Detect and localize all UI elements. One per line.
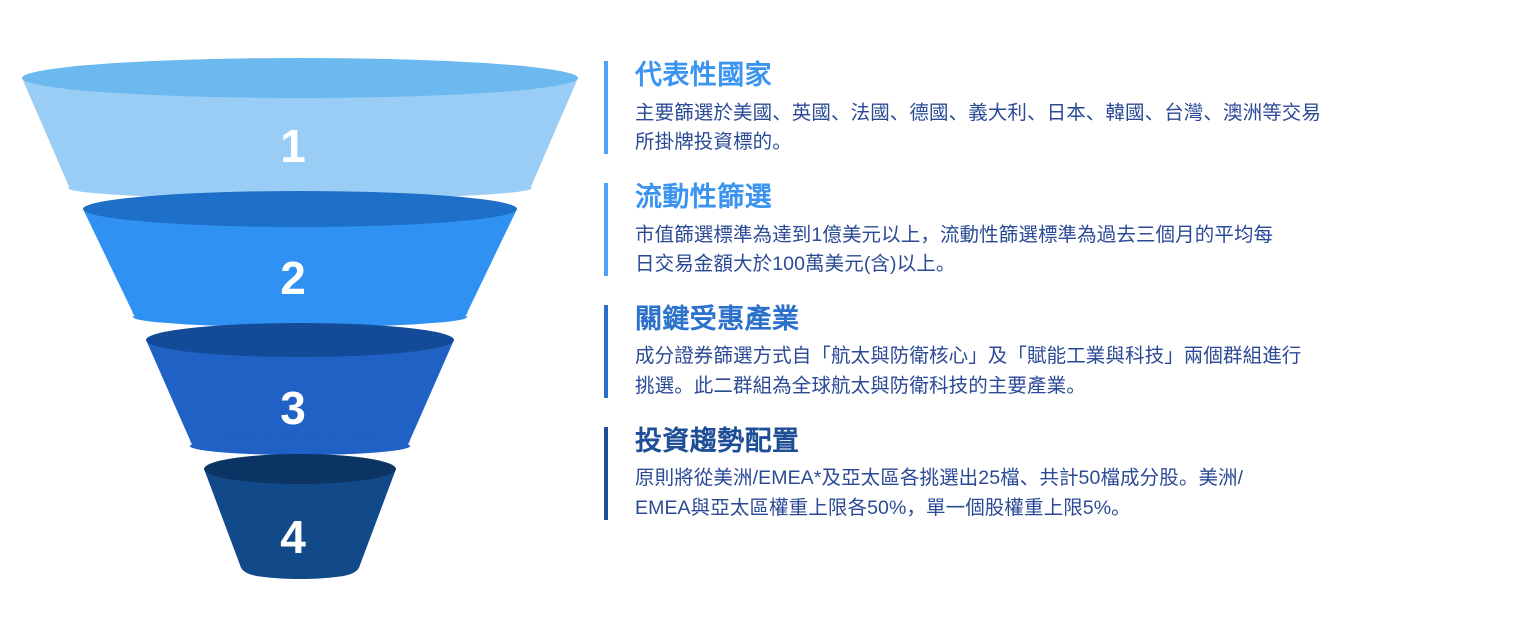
funnel-stage-2-cap bbox=[83, 191, 517, 227]
funnel-stage-3: 3 bbox=[146, 323, 454, 455]
funnel-stage-4: 4 bbox=[204, 454, 396, 579]
funnel-svg: 1 2 3 4 bbox=[0, 0, 600, 635]
step-accent-bar bbox=[604, 61, 608, 154]
step-item-4: 投資趨勢配置 原則將從美洲/EMEA*及亞太區各挑選出25檔、共計50檔成分股。… bbox=[604, 424, 1504, 524]
step-title: 關鍵受惠產業 bbox=[635, 302, 1504, 338]
step-title: 流動性篩選 bbox=[635, 180, 1504, 216]
funnel-stage-4-bottom-ellipse bbox=[245, 563, 355, 579]
funnel-graphic-panel: 1 2 3 4 bbox=[0, 0, 600, 635]
step-description: 成分證券篩選方式自「航太與防衛核心」及「賦能工業與科技」兩個群組進行 挑選。此二… bbox=[635, 342, 1370, 401]
step-accent-bar bbox=[604, 305, 608, 398]
funnel-stage-2: 2 bbox=[83, 191, 517, 327]
step-description: 市值篩選標準為達到1億美元以上，流動性篩選標準為過去三個月的平均每 日交易金額大… bbox=[635, 221, 1370, 280]
step-item-3: 關鍵受惠產業 成分證券篩選方式自「航太與防衛核心」及「賦能工業與科技」兩個群組進… bbox=[604, 302, 1504, 402]
step-description-line: 主要篩選於美國、英國、法國、德國、義大利、日本、韓國、台灣、澳洲等交易 bbox=[635, 99, 1370, 129]
step-accent-bar bbox=[604, 183, 608, 276]
funnel-stage-3-cap bbox=[146, 323, 454, 357]
funnel-stage-3-number: 3 bbox=[280, 382, 306, 434]
step-description: 原則將從美洲/EMEA*及亞太區各挑選出25檔、共計50檔成分股。美洲/ EME… bbox=[635, 464, 1370, 523]
step-item-1: 代表性國家 主要篩選於美國、英國、法國、德國、義大利、日本、韓國、台灣、澳洲等交… bbox=[604, 58, 1504, 158]
funnel-stage-2-number: 2 bbox=[280, 252, 306, 304]
step-description-line: 成分證券篩選方式自「航太與防衛核心」及「賦能工業與科技」兩個群組進行 bbox=[635, 342, 1370, 372]
step-description-line: 挑選。此二群組為全球航太與防衛科技的主要產業。 bbox=[635, 372, 1370, 402]
step-description-line: 所掛牌投資標的。 bbox=[635, 128, 1370, 158]
funnel-stage-1-cap bbox=[22, 58, 578, 98]
step-description-line: 原則將從美洲/EMEA*及亞太區各挑選出25檔、共計50檔成分股。美洲/ bbox=[635, 464, 1370, 494]
funnel-stage-4-number: 4 bbox=[280, 511, 306, 563]
step-title: 代表性國家 bbox=[635, 58, 1504, 94]
step-accent-bar bbox=[604, 427, 608, 520]
step-description-line: 市值篩選標準為達到1億美元以上，流動性篩選標準為過去三個月的平均每 bbox=[635, 221, 1370, 251]
steps-list: 代表性國家 主要篩選於美國、英國、法國、德國、義大利、日本、韓國、台灣、澳洲等交… bbox=[604, 58, 1504, 524]
step-description: 主要篩選於美國、英國、法國、德國、義大利、日本、韓國、台灣、澳洲等交易 所掛牌投… bbox=[635, 99, 1370, 158]
funnel-stage-3-bottom-ellipse bbox=[190, 437, 410, 455]
funnel-infographic: 1 2 3 4 bbox=[0, 0, 1536, 635]
step-title: 投資趨勢配置 bbox=[635, 424, 1504, 460]
step-item-2: 流動性篩選 市值篩選標準為達到1億美元以上，流動性篩選標準為過去三個月的平均每 … bbox=[604, 180, 1504, 280]
step-description-line: EMEA與亞太區權重上限各50%，單一個股權重上限5%。 bbox=[635, 494, 1370, 524]
funnel-stage-1: 1 bbox=[22, 58, 578, 199]
step-description-line: 日交易金額大於100萬美元(含)以上。 bbox=[635, 250, 1370, 280]
funnel-stage-1-number: 1 bbox=[280, 120, 306, 172]
funnel-stage-4-cap bbox=[204, 454, 396, 484]
